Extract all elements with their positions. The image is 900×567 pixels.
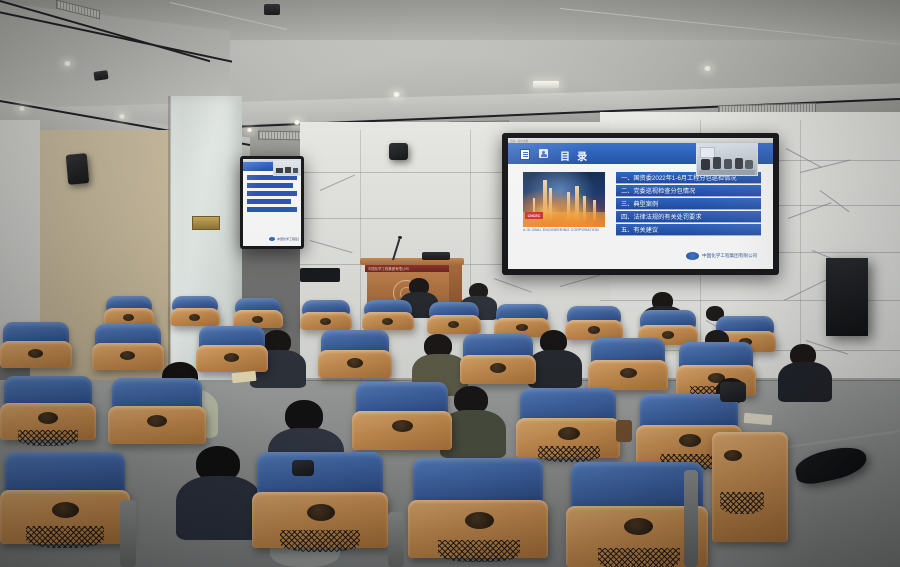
auditorium-seat[interactable] xyxy=(108,378,206,444)
auditorium-seat[interactable] xyxy=(362,300,414,330)
auditorium-seat[interactable] xyxy=(92,324,164,370)
video-conference-inset[interactable] xyxy=(696,143,758,176)
auditorium-seat[interactable] xyxy=(352,382,452,450)
seat-rail xyxy=(120,500,136,567)
auditorium-seat[interactable] xyxy=(318,330,392,378)
main-display-screen[interactable]: 目录－演示文稿 目 录 xyxy=(502,133,779,275)
person-body xyxy=(176,476,262,540)
ceiling-air-vent xyxy=(258,131,306,141)
auditorium-seat[interactable] xyxy=(0,452,130,544)
ceiling-downlight xyxy=(118,114,126,119)
ceiling-downlight xyxy=(246,128,253,132)
auditorium-seat[interactable] xyxy=(516,388,620,458)
auditorium-seat[interactable] xyxy=(104,296,154,326)
inset-person xyxy=(735,158,743,169)
inset-wall-screen xyxy=(700,147,715,158)
auditorium-seat[interactable] xyxy=(0,322,72,368)
ceiling-downlight xyxy=(703,66,712,71)
side-display-screen[interactable]: 中国化学工程集团有限公司 xyxy=(240,156,304,249)
column-edge-shadow xyxy=(168,96,171,396)
ceiling-light-fixture xyxy=(533,81,559,88)
auditorium-seat[interactable] xyxy=(408,458,548,558)
slide-footer-logo: 中国化学工程集团有限公司 xyxy=(686,252,757,260)
seat-rail xyxy=(388,512,404,567)
inset-person xyxy=(713,157,721,169)
bag-under-seat[interactable] xyxy=(292,460,314,476)
auditorium-seat[interactable] xyxy=(588,338,668,390)
auditorium-seat[interactable] xyxy=(196,326,268,372)
podium-nameplate: 中国化学工程集团有限公司 xyxy=(365,265,454,272)
slide-photo-caption: A GLOBAL ENGINEERING CORPORATION xyxy=(523,228,599,232)
agenda-item-2[interactable]: 二、党委巡视检查分包情况 xyxy=(616,185,761,197)
ceiling-speaker xyxy=(93,70,108,81)
wall-speaker xyxy=(389,143,408,160)
auditorium-seat[interactable] xyxy=(0,376,96,440)
side-screen-logo-text: 中国化学工程集团有限公司 xyxy=(277,237,299,241)
inset-person xyxy=(745,160,753,169)
ceiling-downlight xyxy=(392,92,401,97)
auditorium-seat[interactable] xyxy=(494,304,550,337)
auditorium-seat[interactable] xyxy=(427,302,481,334)
person-body xyxy=(528,350,582,388)
floor-speaker xyxy=(826,258,868,336)
presentation-status-bar: 目录－演示文稿 xyxy=(510,139,528,143)
podium-control-console[interactable] xyxy=(422,252,450,260)
auditorium-seat[interactable] xyxy=(170,296,220,326)
side-agenda-row xyxy=(247,207,297,212)
auditorium-scene: 中国化学工程集团有限公司 目录－演示文稿 xyxy=(0,0,900,567)
auditorium-seat[interactable] xyxy=(252,452,388,548)
slide-footer-logo-text: 中国化学工程集团有限公司 xyxy=(702,253,757,259)
cup-on-armrest[interactable] xyxy=(616,420,632,442)
side-agenda-row xyxy=(247,183,293,188)
auditorium-seat[interactable] xyxy=(233,298,283,328)
seat-rail xyxy=(684,470,698,567)
side-agenda-row xyxy=(247,191,297,196)
inset-table xyxy=(699,170,755,175)
agenda-item-5[interactable]: 五、有关建议 xyxy=(616,224,761,236)
auditorium-seat[interactable] xyxy=(565,306,623,340)
side-agenda-row xyxy=(247,199,291,204)
slide-title: 目 录 xyxy=(560,148,589,163)
auditorium-seat-aisle[interactable] xyxy=(712,432,788,542)
inset-person xyxy=(724,159,732,169)
person-body xyxy=(778,362,832,402)
cncec-badge: CNCEC xyxy=(525,212,543,219)
wall-speaker xyxy=(66,153,90,185)
agenda-item-4[interactable]: 四、法律法规的有关处罚要求 xyxy=(616,211,761,223)
auditorium-seat[interactable] xyxy=(300,300,352,330)
auditorium-seat[interactable] xyxy=(460,334,536,384)
presenter-icon xyxy=(539,149,548,158)
bag-under-seat[interactable] xyxy=(720,382,746,402)
ceiling-projector xyxy=(264,4,280,15)
stage-monitor xyxy=(300,268,340,282)
slide-photo: CNCEC xyxy=(523,172,605,227)
wall-plaque xyxy=(192,216,220,230)
inset-person xyxy=(701,159,710,170)
ceiling-downlight xyxy=(63,61,72,66)
ceiling-downlight xyxy=(18,106,26,111)
side-video-inset xyxy=(273,160,301,176)
agenda-item-3[interactable]: 三、典型案例 xyxy=(616,198,761,210)
podium-microphone-head xyxy=(398,236,402,239)
list-icon xyxy=(520,149,530,160)
